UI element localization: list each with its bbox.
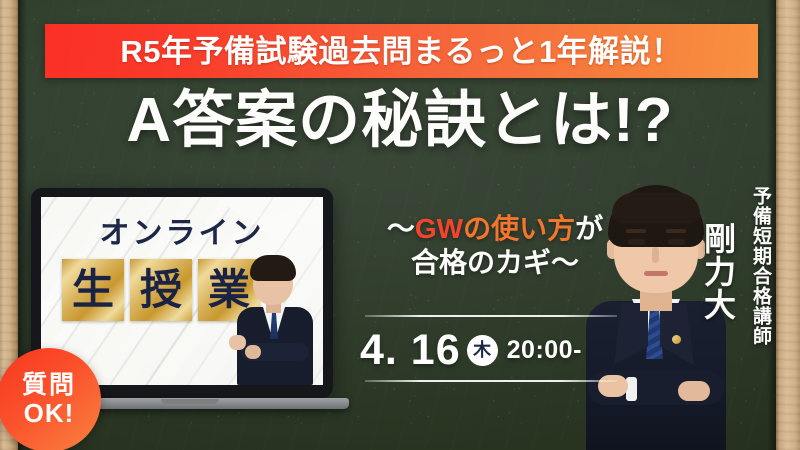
- schedule-date: 4. 16: [360, 329, 461, 372]
- instructor-nose: [652, 247, 659, 263]
- schedule-rule-bottom: [365, 380, 617, 382]
- lead-highlight-usage: の使い方: [463, 213, 575, 244]
- gold-char-box: 生: [62, 259, 124, 321]
- instructor-lapel-pin: [672, 335, 681, 344]
- screen-figure-hair: [250, 255, 296, 281]
- schedule-day-of-week: 木: [467, 335, 498, 366]
- instructor-hand-right: [678, 381, 710, 401]
- badge-line-1: 質問: [22, 371, 76, 399]
- headline-banner-text: R5年予備試験過去問まるっと1年解説！: [120, 36, 682, 67]
- instructor-name-caption: 剛力大: [700, 222, 734, 321]
- schedule-bar: 4. 16 木 20:00-: [360, 322, 622, 378]
- schedule-time: 20:00-: [507, 336, 582, 365]
- lead-highlight-gw: GW: [415, 213, 463, 244]
- instructor-eye-right: [668, 239, 685, 245]
- instructor-role-caption: 予備短期合格講師: [750, 186, 770, 346]
- schedule-rule-top: [365, 315, 617, 317]
- instructor-mouth: [644, 271, 668, 276]
- laptop-base-notch: [161, 399, 219, 404]
- screen-figure-hand-2: [245, 345, 261, 359]
- screen-headline: オンライン: [41, 219, 323, 249]
- page-title: A答案の秘訣とは!?: [0, 90, 800, 152]
- headline-banner: R5年予備試験過去問まるっと1年解説！: [45, 24, 758, 78]
- lead-copy: 〜GWの使い方が 合格のカギ〜: [355, 212, 635, 280]
- screen-instructor-figure: [219, 257, 323, 385]
- instructor-hand-left: [598, 375, 628, 397]
- wood-frame-right: [776, 0, 800, 450]
- instructor-eyebrow-right: [666, 229, 686, 233]
- badge-line-2: OK!: [24, 399, 75, 428]
- screen-figure-hand: [229, 335, 246, 350]
- lead-suffix: が: [575, 213, 603, 244]
- lead-prefix: 〜: [387, 213, 415, 244]
- question-ok-badge: 質問 OK!: [0, 348, 101, 450]
- laptop-screen: オンライン 生 授 業: [41, 197, 323, 385]
- instructor-shirt-cuff: [626, 377, 637, 401]
- gold-char-box: 授: [130, 259, 192, 321]
- lead-line-2: 合格のカギ〜: [411, 247, 579, 278]
- seminar-promo-banner: R5年予備試験過去問まるっと1年解説！ A答案の秘訣とは!? オンライン 生 授…: [0, 0, 800, 450]
